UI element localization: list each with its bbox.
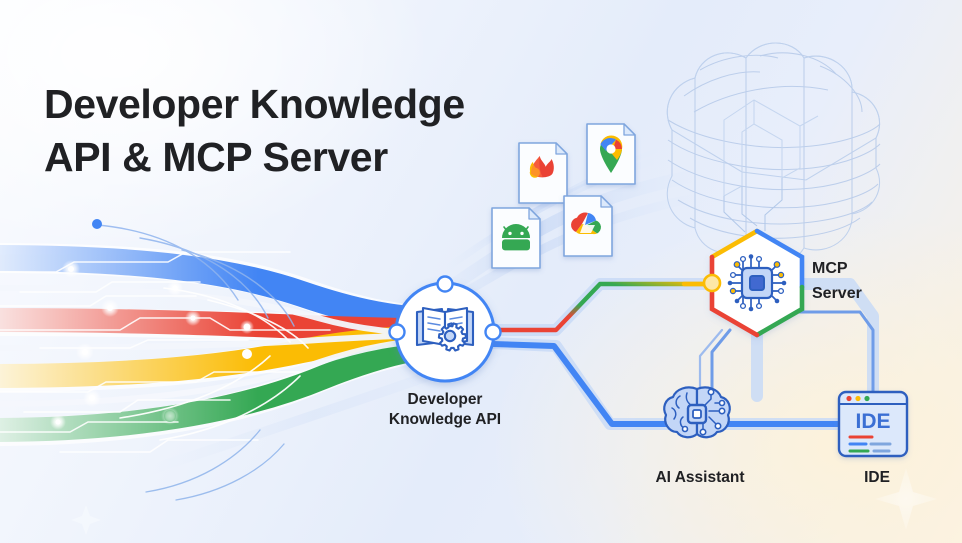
brain-chip-icon xyxy=(664,387,730,437)
connector-knob-right xyxy=(486,325,501,340)
page-title: Developer Knowledge API & MCP Server xyxy=(44,78,564,184)
node-mcp-server[interactable] xyxy=(704,231,802,335)
label-developer-knowledge-api: Developer Knowledge API xyxy=(350,390,540,430)
page-title-line2: API & MCP Server xyxy=(44,131,564,184)
node-developer-knowledge-api[interactable] xyxy=(390,277,501,382)
label-line1: MCP xyxy=(812,256,942,281)
hex-connector-knob xyxy=(704,275,720,291)
diagram-canvas: IDE Developer Knowledge API & MCP Server… xyxy=(0,0,962,543)
window-traffic-lights xyxy=(846,396,869,401)
connector-knob-top xyxy=(438,277,453,292)
book-gear-icon xyxy=(417,308,473,351)
node-ai-assistant[interactable] xyxy=(664,387,730,437)
page-title-line1: Developer Knowledge xyxy=(44,78,564,131)
label-line2: Knowledge API xyxy=(350,410,540,430)
label-ide: IDE xyxy=(822,468,932,488)
label-mcp-server: MCP Server xyxy=(812,256,942,306)
connector-knob-left xyxy=(390,325,405,340)
label-line1: Developer xyxy=(350,390,540,410)
ide-screen-text: IDE xyxy=(855,410,890,433)
label-ai-assistant: AI Assistant xyxy=(620,468,780,488)
node-ide[interactable]: IDE xyxy=(839,392,907,456)
label-line2: Server xyxy=(812,281,942,306)
